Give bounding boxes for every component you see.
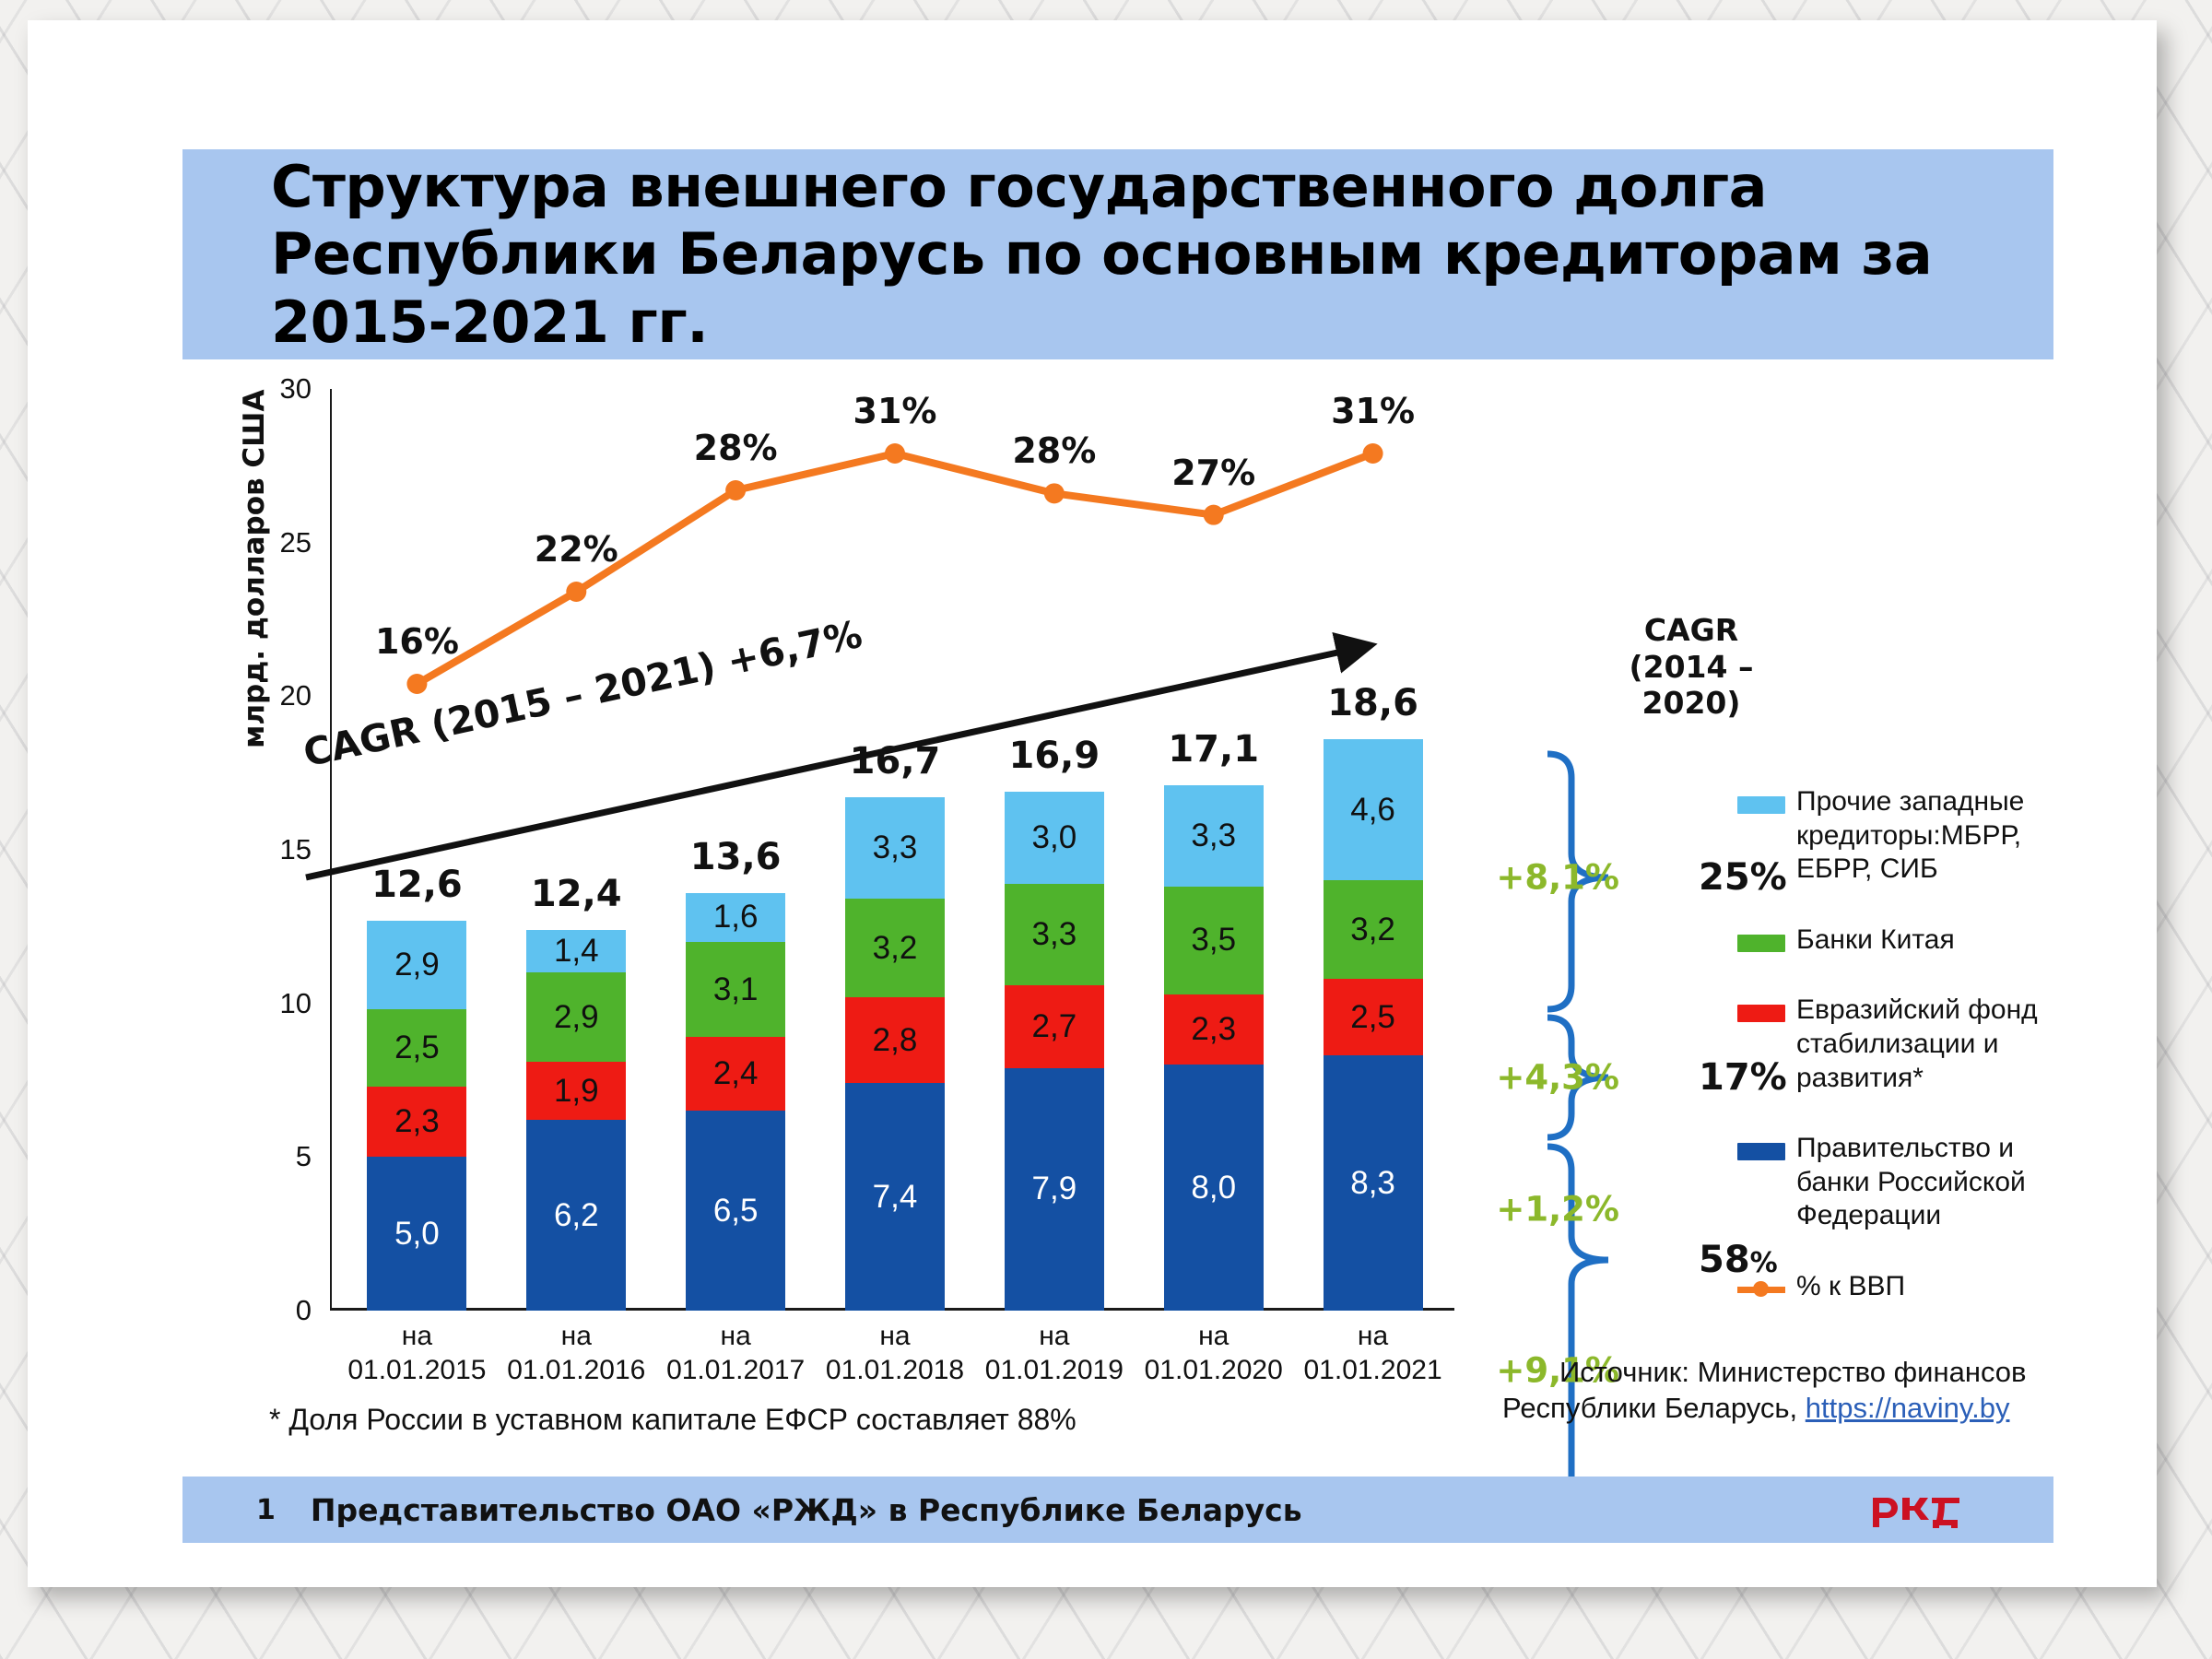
x-tick-label: на01.01.2017 <box>666 1320 805 1387</box>
legend-label-line: Правительство и <box>1796 1132 2026 1166</box>
legend-label: Прочие западныекредиторы:МБРР,ЕБРР, СИБ <box>1796 785 2024 887</box>
legend-label-line: стабилизации и <box>1796 1028 2038 1062</box>
legend-item[interactable]: % к ВВП <box>1737 1270 2161 1304</box>
x-tick-line: на <box>1145 1320 1283 1354</box>
x-tick-line: 01.01.2016 <box>507 1354 645 1388</box>
legend-label: Евразийский фондстабилизации иразвития* <box>1796 994 2038 1095</box>
cagr-share-panel: CAGR(2014 –2020) +8,1%25%+4,3%17%+1,2%+9… <box>1461 629 1737 1329</box>
legend-label: Банки Китая <box>1796 924 1955 958</box>
x-tick-line: на <box>507 1320 645 1354</box>
legend-item[interactable]: Правительство ибанки РоссийскойФедерации <box>1737 1132 2161 1233</box>
legend-swatch-icon <box>1737 1005 1785 1022</box>
slide-canvas: Структура внешнего государственного долг… <box>28 20 2157 1587</box>
footer-bar: 1 Представительство ОАО «РЖД» в Республи… <box>182 1477 2053 1543</box>
x-tick-line: 01.01.2017 <box>666 1354 805 1388</box>
legend-label-line: банки Российской <box>1796 1166 2026 1200</box>
cagr-value: +4,3% <box>1496 1058 1619 1098</box>
y-tick-5: 5 <box>296 1140 312 1173</box>
legend-swatch-icon <box>1737 796 1785 814</box>
brace-bracket-group <box>1461 629 1737 1347</box>
x-tick-line: на <box>666 1320 805 1354</box>
rzd-logo <box>1869 1488 1969 1531</box>
legend-label-line: Банки Китая <box>1796 924 1955 958</box>
x-tick-label: на01.01.2016 <box>507 1320 645 1387</box>
y-tick-30: 30 <box>280 372 312 406</box>
legend-label-line: развития* <box>1796 1062 2038 1096</box>
x-tick-line: на <box>1303 1320 1441 1354</box>
cagr-value: +8,1% <box>1496 858 1619 898</box>
page-title: Структура внешнего государственного долг… <box>182 153 2053 355</box>
x-tick-line: на <box>985 1320 1124 1354</box>
footer-page-number: 1 <box>256 1494 276 1526</box>
y-tick-25: 25 <box>280 526 312 559</box>
legend-line-marker-icon <box>1737 1281 1785 1299</box>
title-banner: Структура внешнего государственного долг… <box>182 149 2053 359</box>
x-tick-line: 01.01.2019 <box>985 1354 1124 1388</box>
y-axis-label: млрд. долларов США <box>238 390 271 748</box>
legend-swatch-icon <box>1737 935 1785 952</box>
footer-title: Представительство ОАО «РЖД» в Республике… <box>311 1492 1302 1528</box>
chart-legend: Прочие западныекредиторы:МБРР,ЕБРР, СИББ… <box>1737 785 2161 1341</box>
legend-label-line: % к ВВП <box>1796 1270 1905 1304</box>
x-tick-line: 01.01.2021 <box>1303 1354 1441 1388</box>
x-tick-label: на01.01.2019 <box>985 1320 1124 1387</box>
x-tick-label: на01.01.2020 <box>1145 1320 1283 1387</box>
x-tick-line: 01.01.2015 <box>347 1354 486 1388</box>
y-tick-10: 10 <box>280 987 312 1020</box>
legend-item[interactable]: Прочие западныекредиторы:МБРР,ЕБРР, СИБ <box>1737 785 2161 887</box>
cagr-value: +1,2% <box>1496 1190 1619 1230</box>
x-tick-label: на01.01.2015 <box>347 1320 486 1387</box>
y-tick-20: 20 <box>280 679 312 712</box>
cagr-trend-arrow <box>332 389 1447 1311</box>
x-tick-label: на01.01.2021 <box>1303 1320 1441 1387</box>
source-line-1: Источник: Министерство финансов <box>1502 1355 2092 1391</box>
source-note: Источник: Министерство финансов Республи… <box>1502 1355 2092 1427</box>
source-link[interactable]: https://naviny.by <box>1806 1392 2010 1424</box>
legend-item[interactable]: Евразийский фондстабилизации иразвития* <box>1737 994 2161 1095</box>
cagr-arrow-line <box>306 645 1371 877</box>
chart-plot-area: 051015202530 12,62,92,52,35,012,41,42,91… <box>332 389 1447 1311</box>
legend-label: % к ВВП <box>1796 1270 1905 1304</box>
source-line-2: Республики Беларусь, https://naviny.by <box>1502 1391 2092 1427</box>
legend-label-line: Прочие западные <box>1796 785 2024 819</box>
y-tick-15: 15 <box>280 833 312 866</box>
x-tick-line: 01.01.2018 <box>826 1354 964 1388</box>
legend-item[interactable]: Банки Китая <box>1737 924 2161 958</box>
source-prefix: Республики Беларусь, <box>1502 1392 1806 1424</box>
x-tick-line: 01.01.2020 <box>1145 1354 1283 1388</box>
x-tick-label: на01.01.2018 <box>826 1320 964 1387</box>
legend-label-line: Федерации <box>1796 1199 2026 1233</box>
footnote-text: * Доля России в уставном капитале ЕФСР с… <box>269 1403 1077 1437</box>
legend-label-line: Евразийский фонд <box>1796 994 2038 1028</box>
legend-swatch-icon <box>1737 1143 1785 1160</box>
x-tick-line: на <box>826 1320 964 1354</box>
y-tick-0: 0 <box>296 1294 312 1327</box>
legend-label: Правительство ибанки РоссийскойФедерации <box>1796 1132 2026 1233</box>
x-tick-line: на <box>347 1320 486 1354</box>
legend-label-line: кредиторы:МБРР, <box>1796 819 2024 853</box>
legend-label-line: ЕБРР, СИБ <box>1796 853 2024 887</box>
